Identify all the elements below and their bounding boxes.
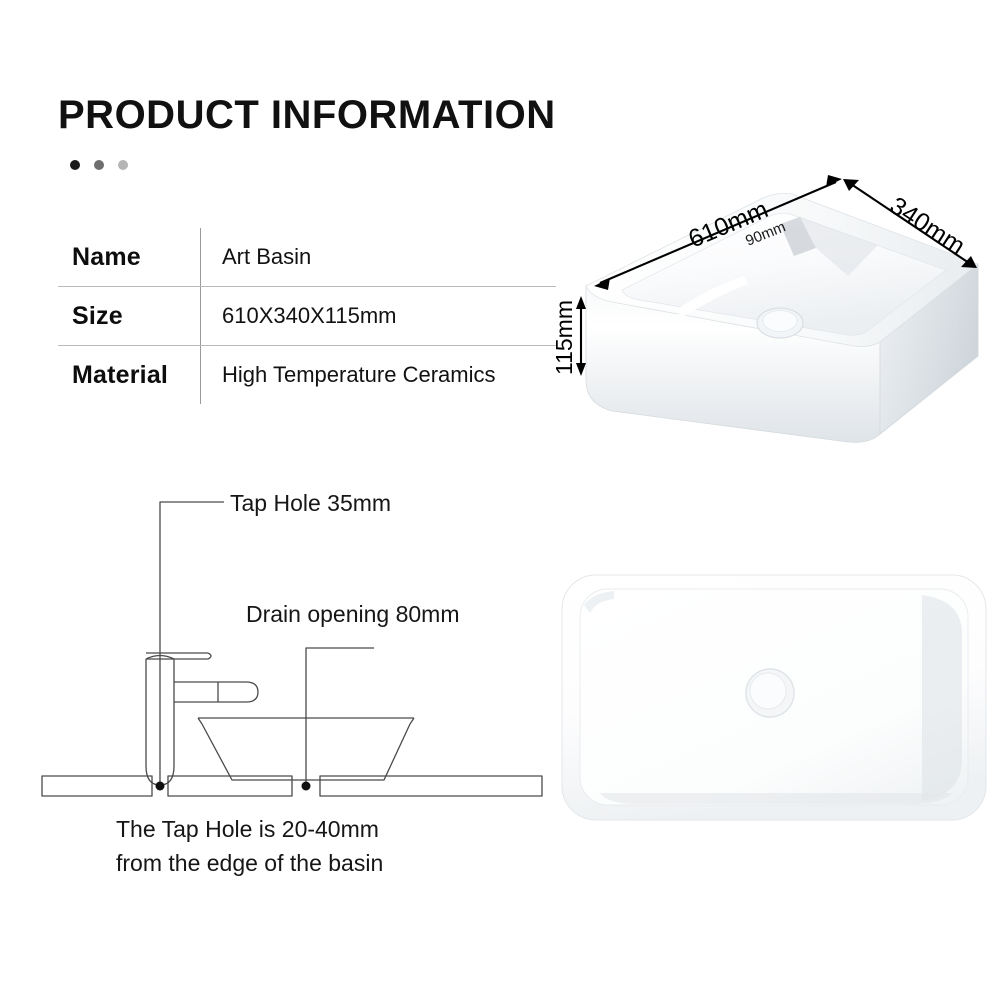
caption-line-1: The Tap Hole is 20-40mm <box>116 812 516 846</box>
dot-indicator-3[interactable] <box>118 160 128 170</box>
column-divider <box>200 346 201 404</box>
drawing-caption: The Tap Hole is 20-40mm from the edge of… <box>116 812 516 880</box>
basin-rim-shading-right <box>920 595 962 801</box>
dot-indicator-2[interactable] <box>94 160 104 170</box>
page-title: PRODUCT INFORMATION <box>58 93 556 138</box>
tap-hole-marker <box>156 782 165 791</box>
callout-tap-hole: Tap Hole 35mm <box>230 490 391 516</box>
installation-line-drawing: Tap Hole 35mm Drain opening 80mm <box>36 470 546 810</box>
dot-indicator-1[interactable] <box>70 160 80 170</box>
basin-top-view-figure <box>548 565 1000 830</box>
caption-line-2: from the edge of the basin <box>116 846 516 880</box>
callout-drain-opening: Drain opening 80mm <box>246 601 460 627</box>
drain-cap <box>763 311 797 332</box>
faucet <box>146 653 258 785</box>
table-row: Name Art Basin <box>58 228 556 286</box>
spec-label-material: Material <box>58 361 200 390</box>
product-spec-table: Name Art Basin Size 610X340X115mm Materi… <box>58 228 556 404</box>
drain-leader-line <box>306 648 374 786</box>
spec-label-size: Size <box>58 302 200 331</box>
spec-value-material: High Temperature Ceramics <box>200 362 495 388</box>
basin-rim-shading-bottom <box>600 793 952 804</box>
drain-hole-marker <box>302 782 311 791</box>
table-row: Material High Temperature Ceramics <box>58 345 556 404</box>
spec-label-name: Name <box>58 243 200 272</box>
spec-value-size: 610X340X115mm <box>200 303 397 329</box>
column-divider <box>200 287 201 345</box>
tap-hole-leader-line <box>160 502 224 786</box>
countertop <box>42 776 542 796</box>
table-row: Size 610X340X115mm <box>58 286 556 345</box>
dimension-label-115mm: 115mm <box>551 300 577 375</box>
spec-value-name: Art Basin <box>200 244 311 270</box>
carousel-dot-indicators <box>70 160 128 170</box>
column-divider <box>200 228 201 286</box>
basin-angled-view-figure: 610mm 340mm 90mm 115mm <box>548 160 1000 450</box>
drain-cap <box>750 673 786 709</box>
